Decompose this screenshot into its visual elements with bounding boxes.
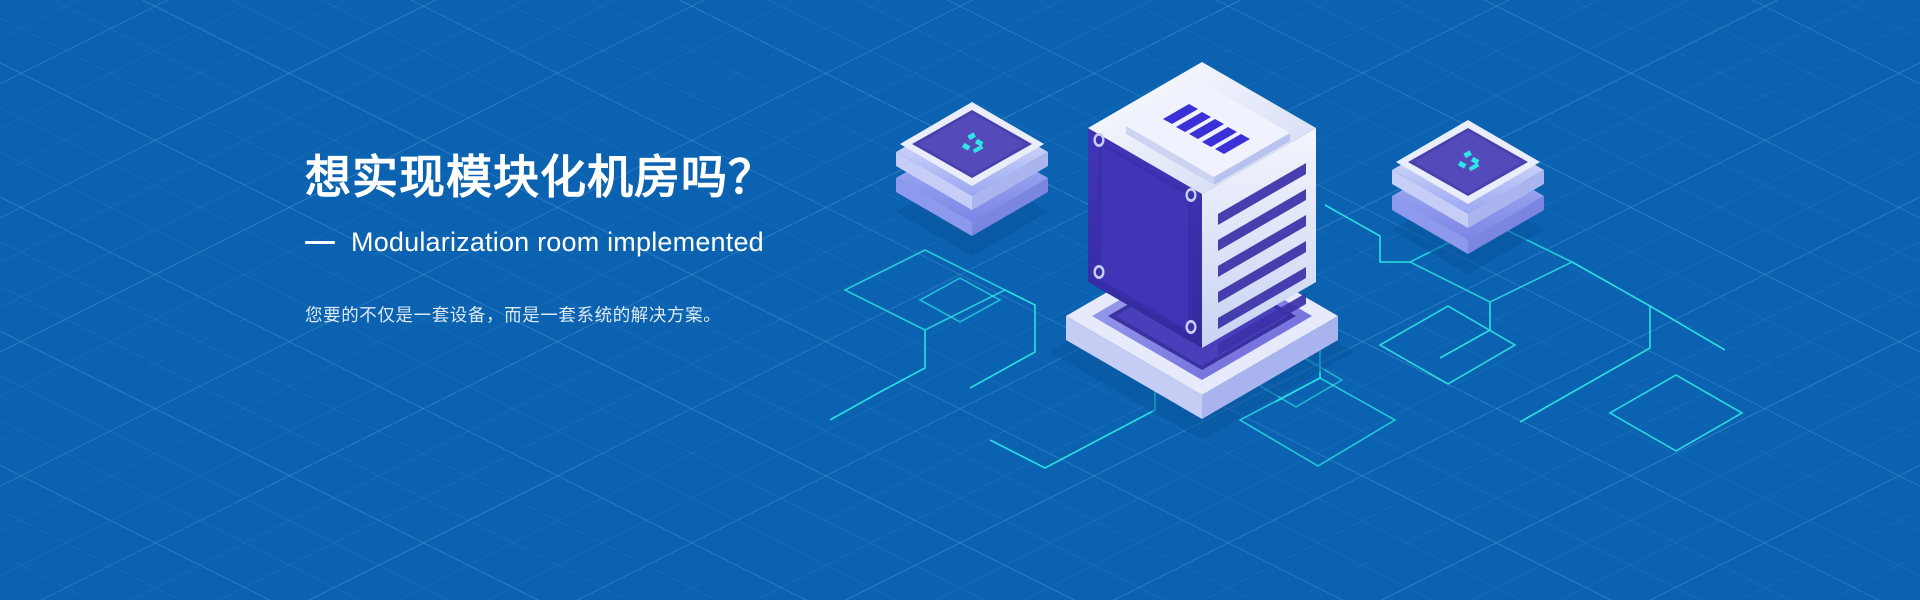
hero-description: 您要的不仅是一套设备，而是一套系统的解决方案。	[305, 301, 945, 329]
chip-module-right	[1392, 120, 1544, 274]
network-diamond-2	[1380, 306, 1515, 384]
hero-copy-block: 想实现模块化机房吗？ Modularization room implement…	[305, 150, 945, 329]
hero-banner: 想实现模块化机房吗？ Modularization room implement…	[0, 0, 1920, 600]
isometric-data-center-illustration	[820, 0, 1920, 600]
page-subtitle: Modularization room implemented	[351, 226, 764, 258]
network-diamond-3	[1610, 375, 1742, 451]
page-title: 想实现模块化机房吗？	[305, 150, 945, 204]
dash-rule-icon	[305, 241, 335, 244]
subheading-row: Modularization room implemented	[305, 226, 945, 258]
